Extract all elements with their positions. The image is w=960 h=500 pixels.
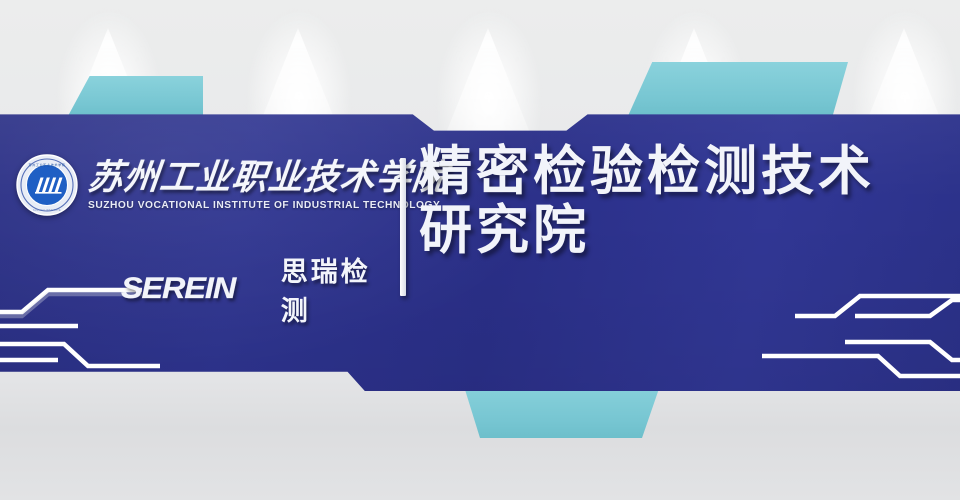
svg-text:SUZHOU INSTITUTE: SUZHOU INSTITUTE (33, 209, 61, 212)
title-line-1: 精密检验检测技术 (419, 142, 949, 201)
partner-brand-lockup: SEREIN 思瑞检测 (121, 250, 398, 328)
university-identity: 苏州工业职业技术学院 SUZHOU INSTITUTE 苏州工业职业技术学院 S… (16, 154, 448, 216)
serein-name-cn: 思瑞检测 (281, 250, 398, 328)
svg-text:苏州工业职业技术学院: 苏州工业职业技术学院 (29, 162, 66, 167)
serein-wordmark: SEREIN (121, 272, 235, 306)
university-names: 苏州工业职业技术学院 SUZHOU VOCATIONAL INSTITUTE O… (88, 159, 448, 210)
institution-logo-block: 苏州工业职业技术学院 SUZHOU INSTITUTE 苏州工业职业技术学院 S… (16, 154, 398, 369)
signage-scene: 苏州工业职业技术学院 SUZHOU INSTITUTE 苏州工业职业技术学院 S… (0, 0, 960, 500)
university-name-cn: 苏州工业职业技术学院 (86, 159, 450, 196)
university-name-en: SUZHOU VOCATIONAL INSTITUTE OF INDUSTRIA… (88, 200, 448, 211)
suzhou-vocational-institute-seal-icon: 苏州工业职业技术学院 SUZHOU INSTITUTE (16, 154, 78, 216)
vertical-white-divider (400, 158, 406, 296)
page-title: 精密检验检测技术 研究院 (419, 142, 949, 261)
signboard-content: 苏州工业职业技术学院 SUZHOU INSTITUTE 苏州工业职业技术学院 S… (0, 94, 960, 394)
title-line-2: 研究院 (419, 201, 949, 260)
